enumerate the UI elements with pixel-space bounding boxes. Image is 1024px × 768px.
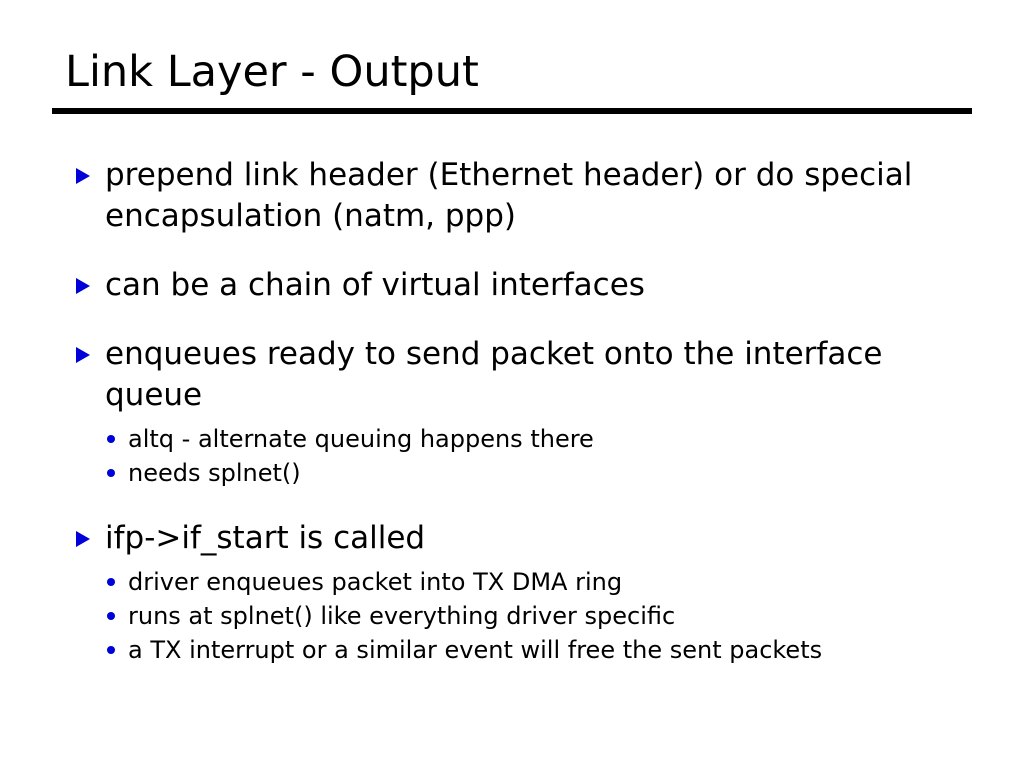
page-title: Link Layer - Output [52, 46, 972, 98]
dot-icon [107, 578, 115, 586]
list-item: altq - alternate queuing happens there [105, 422, 976, 456]
triangle-right-icon [76, 168, 90, 184]
bullet-text: prepend link header (Ethernet header) or… [105, 155, 976, 237]
list-item: enqueues ready to send packet onto the i… [76, 334, 976, 490]
dot-icon [107, 612, 115, 620]
dot-icon [107, 435, 115, 443]
bullet-text: enqueues ready to send packet onto the i… [105, 334, 976, 416]
bullet-list: prepend link header (Ethernet header) or… [76, 155, 976, 667]
bullet-text: ifp->if_start is called [105, 518, 976, 559]
triangle-right-icon [76, 531, 90, 547]
list-item: can be a chain of virtual interfaces [76, 265, 976, 306]
sub-bullet-list: altq - alternate queuing happens there n… [105, 422, 976, 490]
list-item: a TX interrupt or a similar event will f… [105, 633, 976, 667]
sub-bullet-text: driver enqueues packet into TX DMA ring [128, 565, 976, 599]
list-item: driver enqueues packet into TX DMA ring [105, 565, 976, 599]
sub-bullet-text: runs at splnet() like everything driver … [128, 599, 976, 633]
sub-bullet-text: altq - alternate queuing happens there [128, 422, 976, 456]
bullet-text: can be a chain of virtual interfaces [105, 265, 976, 306]
title-block: Link Layer - Output [52, 46, 972, 114]
sub-bullet-list: driver enqueues packet into TX DMA ring … [105, 565, 976, 667]
sub-bullet-text: a TX interrupt or a similar event will f… [128, 633, 976, 667]
slide: Link Layer - Output prepend link header … [0, 0, 1024, 768]
dot-icon [107, 646, 115, 654]
triangle-right-icon [76, 278, 90, 294]
list-item: ifp->if_start is called driver enqueues … [76, 518, 976, 667]
slide-body: prepend link header (Ethernet header) or… [76, 155, 976, 667]
list-item: runs at splnet() like everything driver … [105, 599, 976, 633]
title-divider [52, 108, 972, 114]
list-item: prepend link header (Ethernet header) or… [76, 155, 976, 237]
triangle-right-icon [76, 347, 90, 363]
sub-bullet-text: needs splnet() [128, 456, 976, 490]
dot-icon [107, 469, 115, 477]
list-item: needs splnet() [105, 456, 976, 490]
